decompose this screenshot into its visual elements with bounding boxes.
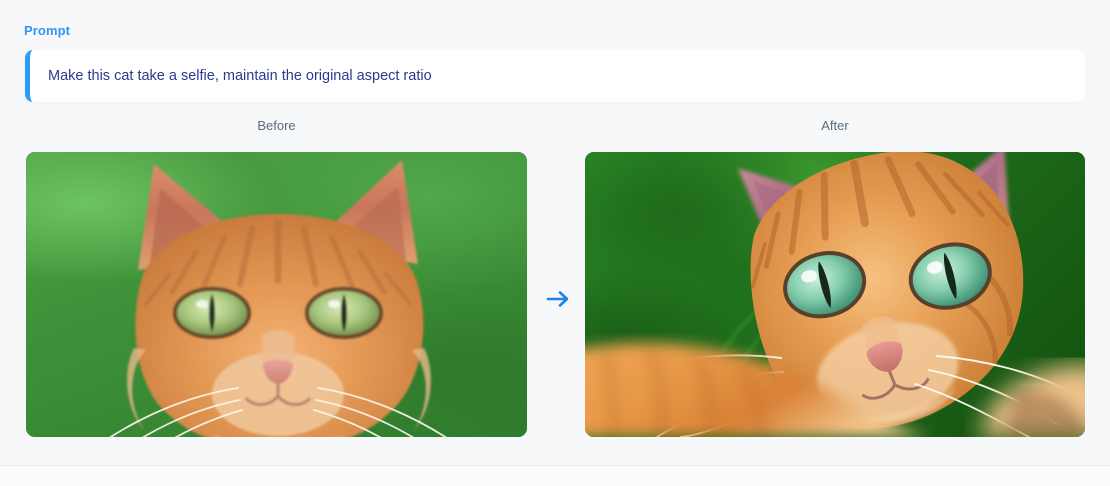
before-cat-illustration [26,152,527,437]
before-caption: Before [26,118,527,136]
prompt-label: Prompt [24,23,70,39]
arrow-right-icon [542,282,576,316]
prompt-text: Make this cat take a selfie, maintain th… [30,66,432,86]
after-caption: After [585,118,1085,136]
bottom-strip [0,466,1110,486]
after-column: After [585,118,1085,437]
editor-result-page: Prompt Make this cat take a selfie, main… [0,0,1110,486]
after-cat-illustration [585,152,1085,437]
after-image[interactable] [585,152,1085,437]
prompt-box[interactable]: Make this cat take a selfie, maintain th… [25,50,1085,102]
before-column: Before [26,118,527,437]
before-image[interactable] [26,152,527,437]
